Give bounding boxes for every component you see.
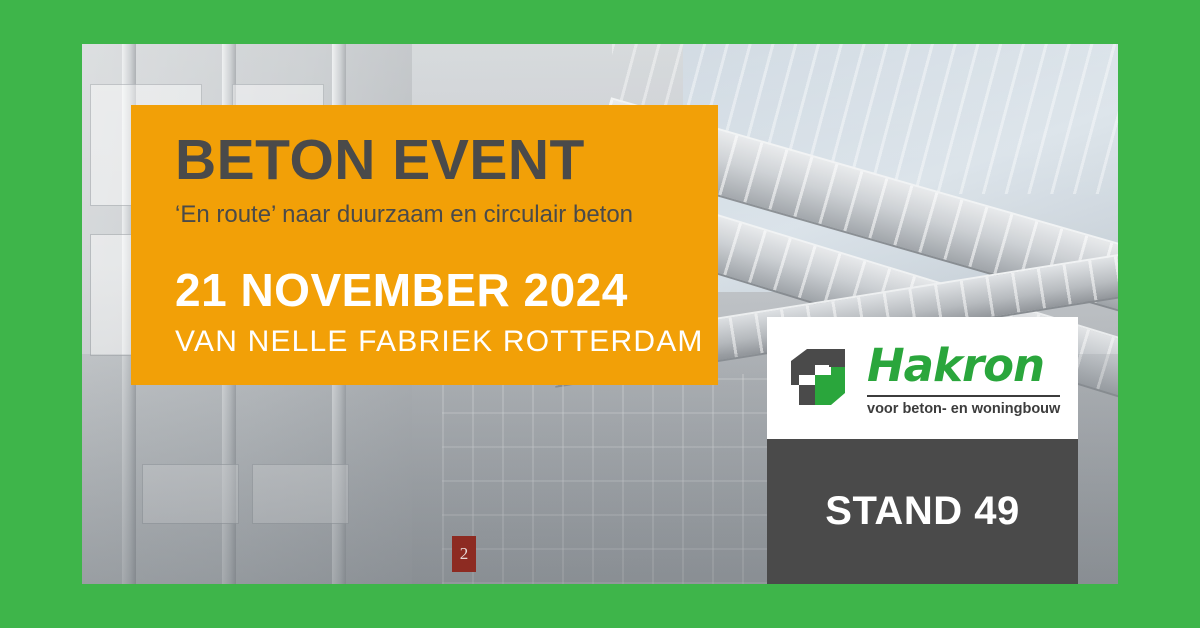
hakron-logo-panel: Hakron voor beton- en woningbouw <box>767 317 1078 439</box>
hakron-tagline: voor beton- en woningbouw <box>867 395 1060 417</box>
event-venue: VAN NELLE FABRIEK ROTTERDAM <box>175 325 718 359</box>
hakron-brand-name: Hakron <box>867 343 1060 388</box>
hakron-logo-text: Hakron voor beton- en woningbouw <box>867 339 1060 417</box>
hakron-logo-mark-icon <box>785 341 859 415</box>
event-info-card: BETON EVENT ‘En route’ naar duurzaam en … <box>131 105 718 385</box>
stand-number-bar: STAND 49 <box>767 439 1078 584</box>
red-sign: 2 <box>452 536 476 572</box>
event-date: 21 NOVEMBER 2024 <box>175 263 718 317</box>
event-subtitle: ‘En route’ naar duurzaam en circulair be… <box>175 201 718 229</box>
event-banner: 2 BETON EVENT ‘En route’ naar duurzaam e… <box>0 0 1200 628</box>
stand-number-label: STAND 49 <box>825 489 1019 534</box>
event-title: BETON EVENT <box>175 131 718 191</box>
